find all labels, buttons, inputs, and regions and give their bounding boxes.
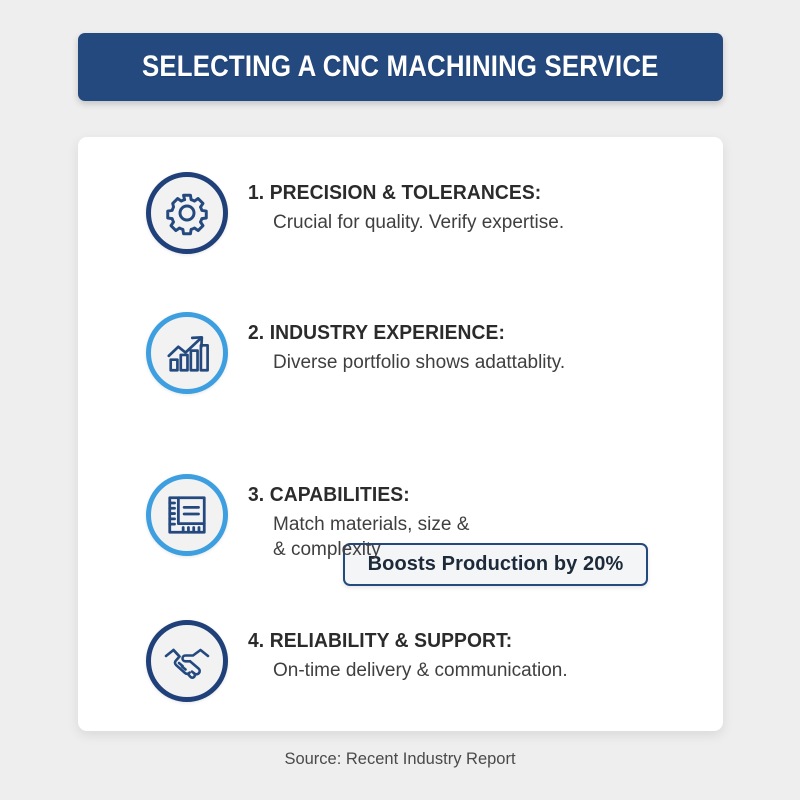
handshake-icon	[146, 620, 228, 702]
gear-icon	[146, 172, 228, 254]
item-heading: 4. RELIABILITY & SUPPORT:	[248, 629, 548, 653]
item-heading: 1. PRECISION & TOLERANCES:	[248, 181, 545, 205]
item-text-block: 1. PRECISION & TOLERANCES: Crucial for q…	[248, 172, 564, 235]
item-body-line: & complexity	[273, 537, 469, 562]
source-note: Source: Recent Industry Report	[0, 750, 800, 769]
item-text-block: 2. INDUSTRY EXPERIENCE: Diverse portfoli…	[248, 312, 565, 375]
blueprint-ruler-icon	[146, 474, 228, 556]
list-item: 2. INDUSTRY EXPERIENCE: Diverse portfoli…	[146, 312, 565, 394]
growth-chart-icon	[146, 312, 228, 394]
list-item: 4. RELIABILITY & SUPPORT: On-time delive…	[146, 620, 568, 702]
header-banner: SELECTING A CNC MACHINING SERVICE	[78, 33, 723, 101]
item-body-line: Match materials, size &	[273, 512, 469, 537]
page-title: SELECTING A CNC MACHINING SERVICE	[142, 50, 658, 84]
item-body-line: On-time delivery & communication.	[273, 658, 568, 683]
infographic-poster: SELECTING A CNC MACHINING SERVICE 1. PRE…	[0, 0, 800, 800]
item-body-line: Diverse portfolio shows adattablity.	[273, 350, 565, 375]
item-heading: 2. INDUSTRY EXPERIENCE:	[248, 321, 546, 345]
item-heading: 3. CAPABILITIES:	[248, 483, 456, 507]
item-text-block: 4. RELIABILITY & SUPPORT: On-time delive…	[248, 620, 568, 683]
list-item: 1. PRECISION & TOLERANCES: Crucial for q…	[146, 172, 564, 254]
item-body-line: Crucial for quality. Verify expertise.	[273, 210, 564, 235]
item-text-block: 3. CAPABILITIES: Match materials, size &…	[248, 474, 469, 562]
list-item: 3. CAPABILITIES: Match materials, size &…	[146, 474, 469, 562]
content-card: 1. PRECISION & TOLERANCES: Crucial for q…	[78, 137, 723, 731]
